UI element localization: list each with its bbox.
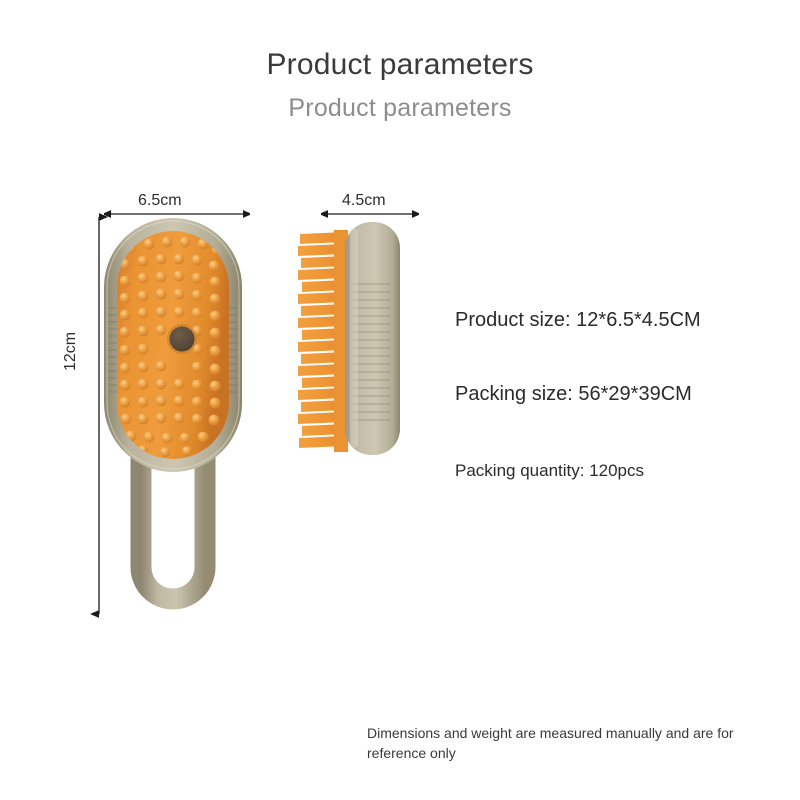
spec-packing-quantity: Packing quantity: 120pcs: [455, 461, 644, 481]
product-parameters-page: Product parameters Product parameters 6.…: [0, 0, 800, 800]
product-side-view-illustration: [290, 212, 425, 627]
product-front-view-illustration: [95, 212, 270, 622]
dimension-label-height: 12cm: [62, 332, 80, 371]
spec-packing-size: Packing size: 56*29*39CM: [455, 383, 692, 406]
page-title: Product parameters: [0, 48, 800, 82]
spec-product-size: Product size: 12*6.5*4.5CM: [455, 309, 701, 332]
footer-disclaimer: Dimensions and weight are measured manua…: [367, 723, 767, 764]
page-subtitle: Product parameters: [0, 94, 800, 123]
dimension-label-side-width: 4.5cm: [342, 192, 386, 210]
dimension-label-front-width: 6.5cm: [138, 192, 182, 210]
